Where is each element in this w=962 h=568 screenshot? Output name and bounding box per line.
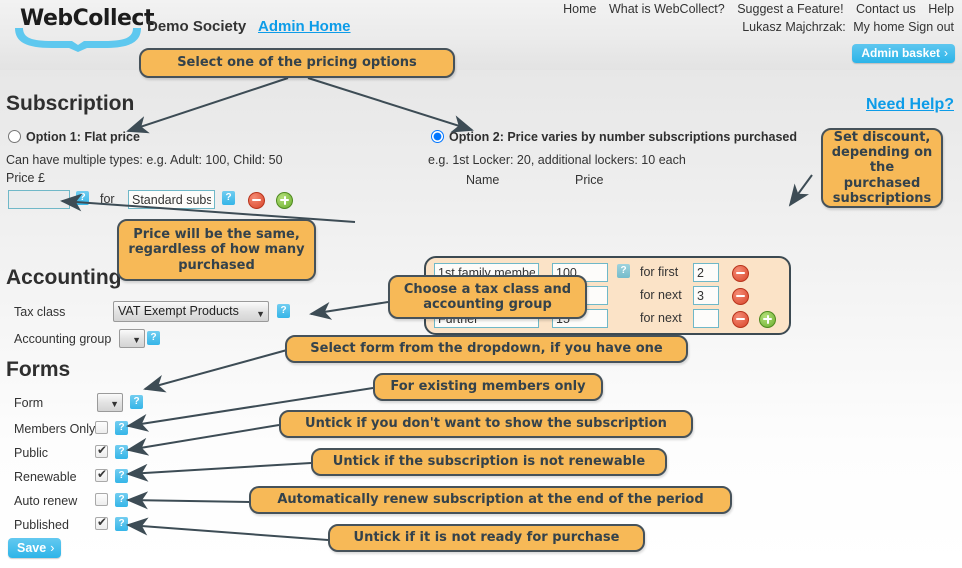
callout-public: Untick if you don't want to show the sub… (279, 410, 693, 438)
tier-qty-input-2[interactable] (693, 286, 719, 305)
tax-class-select[interactable]: VAT Exempt Products ▼ (113, 301, 269, 322)
nav-what-is-webcollect[interactable]: What is WebCollect? (609, 2, 725, 16)
admin-home-link[interactable]: Admin Home (258, 18, 351, 35)
minus-icon (736, 318, 745, 320)
option2-description: e.g. 1st Locker: 20, additional lockers:… (428, 153, 686, 167)
webcollect-logo[interactable]: WebCollect (8, 4, 144, 52)
user-name-label: Lukasz Majchrzak: (742, 20, 846, 34)
renewable-checkbox[interactable] (95, 469, 108, 482)
published-help-icon[interactable]: ? (115, 517, 128, 531)
nav-suggest-a-feature[interactable]: Suggest a Feature! (737, 2, 843, 16)
option1-radio[interactable] (8, 130, 21, 143)
nav-contact-us[interactable]: Contact us (856, 2, 916, 16)
subscription-type-input[interactable] (128, 190, 215, 209)
callout-flat-price: Price will be the same, regardless of ho… (117, 219, 316, 281)
minus-icon (736, 295, 745, 297)
option2-radio[interactable] (431, 130, 444, 143)
tier-help-icon-1[interactable]: ? (617, 264, 630, 278)
callout-form-dropdown: Select form from the dropdown, if you ha… (285, 335, 688, 363)
flat-price-help-icon[interactable]: ? (76, 191, 89, 205)
callout-discount: Set discount, depending on the purchased… (821, 128, 943, 208)
form-label: Form (14, 396, 43, 410)
callout-tax-class: Choose a tax class and accounting group (388, 275, 587, 319)
option1-description: Can have multiple types: e.g. Adult: 100… (6, 153, 283, 167)
plus-icon-v (284, 196, 286, 205)
add-price-row-button[interactable] (276, 192, 293, 209)
admin-basket-button[interactable]: Admin basket› (852, 44, 955, 63)
tax-class-help-icon[interactable]: ? (277, 304, 290, 318)
chevron-right-icon: › (944, 46, 948, 60)
callout-members-only: For existing members only (373, 373, 603, 401)
remove-tier-button-2[interactable] (732, 288, 749, 305)
tier-qty-label-2: for next (640, 288, 682, 302)
members-only-help-icon[interactable]: ? (115, 421, 128, 435)
option1-label: Option 1: Flat price (26, 130, 140, 144)
chevron-right-icon: › (50, 541, 54, 555)
nav-help[interactable]: Help (928, 2, 954, 16)
form-select[interactable]: ▼ (97, 393, 123, 412)
remove-tier-button-1[interactable] (732, 265, 749, 282)
admin-basket-label: Admin basket (861, 46, 940, 60)
tier-qty-input-1[interactable] (693, 263, 719, 282)
accounting-heading: Accounting (6, 266, 122, 290)
price-label: Price £ (6, 171, 45, 185)
accounting-group-select[interactable]: ▼ (119, 329, 145, 348)
callout-published: Untick if it is not ready for purchase (328, 524, 645, 552)
members-only-label: Members Only (14, 422, 95, 436)
auto-renew-help-icon[interactable]: ? (115, 493, 128, 507)
renewable-label: Renewable (14, 470, 77, 484)
members-only-checkbox[interactable] (95, 421, 108, 434)
subscription-type-help-icon[interactable]: ? (222, 191, 235, 205)
nav-my-home[interactable]: My home (853, 20, 904, 34)
tier-qty-label-3: for next (640, 311, 682, 325)
remove-price-row-button[interactable] (248, 192, 265, 209)
nav-sign-out[interactable]: Sign out (908, 20, 954, 34)
tier-qty-label-1: for first (640, 265, 678, 279)
callout-auto-renew: Automatically renew subscription at the … (249, 486, 732, 514)
tax-class-label: Tax class (14, 305, 65, 319)
tier-qty-input-3[interactable] (693, 309, 719, 328)
renewable-help-icon[interactable]: ? (115, 469, 128, 483)
column-header-name: Name (466, 173, 499, 187)
accounting-group-label: Accounting group (14, 332, 111, 346)
chevron-down-icon: ▼ (132, 333, 141, 348)
chevron-down-icon: ▼ (256, 306, 265, 322)
user-nav: Lukasz Majchrzak: My home Sign out (742, 20, 954, 34)
save-button[interactable]: Save› (8, 538, 61, 558)
auto-renew-checkbox[interactable] (95, 493, 108, 506)
auto-renew-label: Auto renew (14, 494, 77, 508)
public-help-icon[interactable]: ? (115, 445, 128, 459)
logo-smile-icon (12, 26, 144, 52)
accounting-group-help-icon[interactable]: ? (147, 331, 160, 345)
column-header-price: Price (575, 173, 603, 187)
published-checkbox[interactable] (95, 517, 108, 530)
minus-icon (736, 272, 745, 274)
flat-price-input[interactable] (8, 190, 70, 209)
minus-icon (252, 199, 261, 201)
add-tier-button[interactable] (759, 311, 776, 328)
forms-heading: Forms (6, 358, 70, 382)
callout-renewable: Untick if the subscription is not renewa… (311, 448, 667, 476)
form-help-icon[interactable]: ? (130, 395, 143, 409)
callout-pricing-options: Select one of the pricing options (139, 48, 455, 78)
primary-nav: Home What is WebCollect? Suggest a Featu… (554, 2, 954, 16)
published-label: Published (14, 518, 69, 532)
plus-icon-v (767, 315, 769, 324)
society-name: Demo Society (147, 18, 246, 35)
need-help-link[interactable]: Need Help? (866, 96, 954, 114)
nav-home[interactable]: Home (563, 2, 596, 16)
chevron-down-icon: ▼ (110, 397, 119, 412)
remove-tier-button-3[interactable] (732, 311, 749, 328)
tax-class-value: VAT Exempt Products (118, 304, 239, 318)
option2-label: Option 2: Price varies by number subscri… (449, 130, 797, 144)
for-label: for (100, 192, 115, 206)
public-checkbox[interactable] (95, 445, 108, 458)
save-label: Save (17, 541, 46, 555)
page-title: Subscription (6, 92, 134, 116)
public-label: Public (14, 446, 48, 460)
